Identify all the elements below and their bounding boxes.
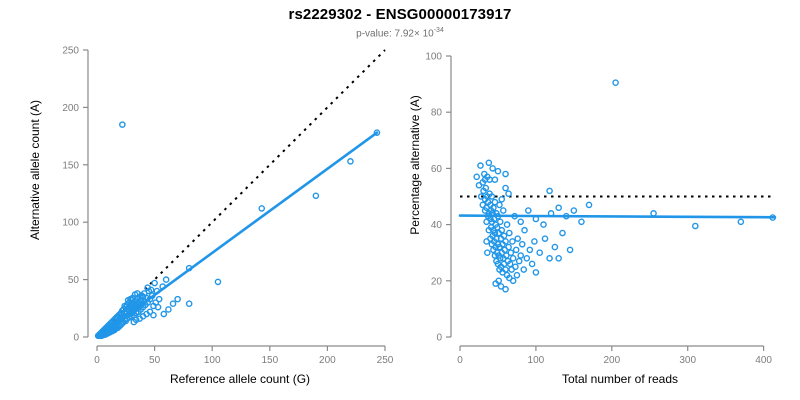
data-point (187, 301, 192, 306)
data-point (518, 253, 523, 258)
right-x-axis-title: Total number of reads (470, 372, 770, 386)
data-point (510, 239, 515, 244)
p-value-subtitle: p-value: 7.92× 10-34 (0, 27, 800, 39)
right-y-tick-label: 0 (436, 333, 442, 344)
left-y-tick-label: 50 (68, 275, 80, 286)
left-points (96, 122, 380, 338)
data-point (524, 256, 529, 261)
data-point (503, 287, 508, 292)
data-point (527, 247, 532, 252)
data-point (175, 297, 180, 302)
data-point (506, 191, 511, 196)
left-x-tick-label: 150 (261, 355, 278, 366)
data-point (120, 122, 125, 127)
data-point (537, 250, 542, 255)
data-point (541, 222, 546, 227)
data-point (166, 307, 171, 312)
data-point (259, 206, 264, 211)
data-point (484, 239, 489, 244)
data-point (490, 166, 495, 171)
right-y-tick-label: 20 (431, 276, 443, 287)
panel-left-scatter: 050100150200250050100150200250 (62, 46, 393, 367)
left-y-axis-label: Alternative allele count (A) (28, 100, 42, 240)
data-point (522, 228, 527, 233)
data-point (693, 223, 698, 228)
data-point (520, 242, 525, 247)
data-point (530, 261, 535, 266)
data-point (164, 277, 169, 282)
data-point (348, 159, 353, 164)
right-fit-line (460, 216, 775, 218)
data-point (651, 211, 656, 216)
data-point (560, 230, 565, 235)
data-point (547, 256, 552, 261)
left-x-tick-label: 0 (94, 355, 100, 366)
data-point (152, 280, 157, 285)
right-x-tick-label: 300 (679, 355, 696, 366)
data-point (215, 279, 220, 284)
page-title: rs2229302 - ENSG00000173917 (0, 6, 800, 23)
data-point (533, 270, 538, 275)
data-point (507, 230, 512, 235)
data-point (571, 208, 576, 213)
right-y-tick-label: 100 (425, 52, 442, 63)
data-point (526, 208, 531, 213)
data-point (518, 219, 523, 224)
data-point (499, 197, 504, 202)
data-point (542, 236, 547, 241)
left-x-tick-label: 250 (377, 355, 394, 366)
left-y-tick-label: 250 (62, 46, 79, 57)
data-point (485, 250, 490, 255)
left-x-tick-label: 100 (204, 355, 221, 366)
left-y-axis-title: Alternative allele count (A) (28, 30, 42, 310)
data-point (514, 273, 519, 278)
data-point (556, 256, 561, 261)
data-point (579, 219, 584, 224)
left-y-tick-label: 0 (73, 333, 79, 344)
right-y-axis-title: Percentage alternative (A) (408, 25, 422, 305)
data-point (313, 193, 318, 198)
data-point (501, 208, 506, 213)
data-point (511, 256, 516, 261)
left-y-tick-label: 100 (62, 218, 79, 229)
data-point (170, 301, 175, 306)
figure-container: rs2229302 - ENSG00000173917 p-value: 7.9… (0, 0, 800, 400)
data-point (161, 311, 166, 316)
data-point (547, 188, 552, 193)
data-point (515, 236, 520, 241)
left-x-tick-label: 50 (149, 355, 161, 366)
right-x-tick-label: 100 (528, 355, 545, 366)
data-point (532, 239, 537, 244)
data-point (508, 250, 513, 255)
right-y-axis-label: Percentage alternative (A) (408, 95, 422, 234)
right-x-axis-label: Total number of reads (562, 372, 678, 386)
right-points (474, 80, 775, 292)
data-point (503, 185, 508, 190)
right-y-tick-label: 60 (431, 164, 443, 175)
data-point (567, 247, 572, 252)
data-point (504, 222, 509, 227)
left-x-axis-label: Reference allele count (G) (170, 372, 310, 386)
data-point (552, 244, 557, 249)
left-x-tick-label: 200 (319, 355, 336, 366)
data-point (586, 202, 591, 207)
data-point (478, 163, 483, 168)
left-y-tick-label: 200 (62, 103, 79, 114)
data-point (474, 174, 479, 179)
data-point (498, 219, 503, 224)
left-x-axis-title: Reference allele count (G) (90, 372, 390, 386)
p-value-text: p-value: 7.92× 10 (356, 28, 434, 39)
right-y-tick-label: 80 (431, 108, 443, 119)
data-point (497, 202, 502, 207)
data-point (503, 171, 508, 176)
data-point (556, 205, 561, 210)
data-point (517, 259, 522, 264)
data-point (513, 264, 518, 269)
right-x-tick-label: 200 (603, 355, 620, 366)
data-point (486, 160, 491, 165)
data-point (738, 219, 743, 224)
left-y-tick-label: 150 (62, 160, 79, 171)
data-point (506, 244, 511, 249)
data-point (514, 247, 519, 252)
panel-right-scatter: 0204060801000100200300400 (425, 52, 775, 367)
right-x-tick-label: 0 (457, 355, 463, 366)
data-point (492, 177, 497, 182)
data-point (613, 80, 618, 85)
data-point (511, 278, 516, 283)
right-x-tick-label: 400 (755, 355, 772, 366)
p-value-exponent: -34 (434, 27, 444, 34)
data-point (495, 169, 500, 174)
plot-svg: 050100150200250050100150200250 020406080… (0, 0, 800, 400)
data-point (521, 267, 526, 272)
right-y-tick-label: 40 (431, 220, 443, 231)
